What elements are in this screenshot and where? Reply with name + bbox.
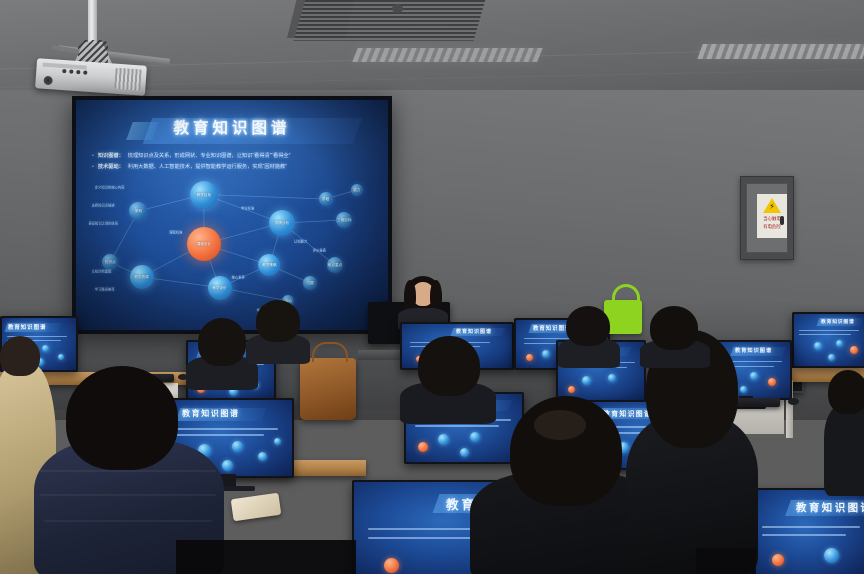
student-far-right-edge (824, 370, 864, 490)
projector-led-1 (62, 69, 66, 73)
phone-on-desk[interactable] (231, 493, 282, 521)
student-row2-center (246, 300, 310, 360)
ceiling-light-2 (697, 44, 864, 59)
projector-led-3 (76, 70, 80, 74)
student-mid-right (400, 336, 496, 414)
monitor-screen: 教育知识图谱 (754, 490, 864, 574)
monitor-right-rear[interactable]: 教育知识图谱 (792, 312, 864, 368)
graph-center-node (418, 442, 428, 452)
hair-highlight (534, 410, 586, 440)
foreground-shadow-bottom (176, 540, 356, 574)
student-hair (418, 336, 480, 396)
mouse-right[interactable] (788, 398, 799, 405)
lightning-bolt-icon: ⚡ (769, 203, 775, 211)
graph-node (814, 342, 822, 350)
student-torso (824, 404, 864, 496)
student-hair (650, 306, 698, 350)
projector-lens-icon (43, 76, 53, 86)
graph-node (828, 354, 835, 361)
graph-node (608, 374, 616, 382)
graph-node (258, 452, 267, 461)
graph-center-node (768, 378, 776, 386)
hvac-vent (294, 0, 487, 41)
graph-center-node (772, 554, 784, 566)
instructor (396, 276, 450, 322)
green-bag-handle (612, 284, 640, 305)
electrical-cabinet[interactable]: ⚡ 当心触电 有电危险 (740, 176, 794, 260)
cabinet-door[interactable]: ⚡ 当心触电 有电危险 (746, 183, 788, 253)
student-row2-right (558, 306, 620, 364)
monitor-screen: 教育知识图谱 (794, 314, 864, 366)
monitor-text-line (799, 334, 851, 335)
graph-node (582, 376, 591, 385)
graph-node (274, 438, 281, 445)
classroom-photo: 教育知识图谱 • 知识图谱： 梳理知识点及关系，形成网状、专业知识图谱，让知识“… (0, 0, 864, 574)
puffer-seam-2 (40, 494, 216, 496)
projector-body (35, 58, 147, 96)
monitor-text-line (799, 330, 859, 331)
ceiling-light-1 (352, 48, 543, 62)
graph-node (824, 548, 839, 563)
graph-node (438, 434, 449, 445)
student-back-right (640, 306, 710, 362)
puffer-seam-3 (44, 520, 212, 522)
smoke-detector-icon (392, 4, 403, 13)
puffer-seam-1 (40, 470, 216, 472)
graph-node (58, 354, 64, 360)
handbag-handle (312, 342, 348, 362)
student-hair (828, 370, 864, 414)
student-hair (198, 318, 246, 366)
foreground-shadow-right (696, 548, 756, 574)
student-hair (66, 366, 178, 470)
ceiling-projector (0, 0, 200, 100)
leather-handbag (300, 358, 356, 420)
student-hair (566, 306, 610, 346)
monitor-slide-title: 教育知识图谱 (796, 500, 864, 515)
graph-node (232, 441, 243, 452)
monitor-slide-title: 教育知识图谱 (8, 323, 46, 331)
student-hair (256, 300, 300, 342)
projection-screen: 教育知识图谱 • 知识图谱： 梳理知识点及关系，形成网状、专业知识图谱，让知识“… (72, 96, 392, 334)
screen-vignette (76, 100, 388, 330)
monitor-slide-title: 教育知识图谱 (821, 318, 855, 325)
monitor-slide-title: 教育知识图谱 (456, 328, 492, 335)
projector-led-4 (83, 70, 87, 74)
cabinet-handle[interactable] (780, 216, 784, 225)
graph-center-node (568, 386, 575, 393)
graph-center-node (526, 354, 533, 361)
monitor-front-right[interactable]: 教育知识图谱 (752, 488, 864, 574)
graph-node (460, 448, 469, 457)
graph-node (542, 350, 550, 358)
graph-center-node (384, 558, 399, 573)
graph-center-node (850, 346, 858, 354)
projector-led-2 (69, 69, 73, 73)
projected-slide: 教育知识图谱 • 知识图谱： 梳理知识点及关系，形成网状、专业知识图谱，让知识“… (76, 100, 388, 330)
monitor-text-line (762, 534, 846, 536)
graph-node (836, 340, 843, 347)
projector-grill (114, 68, 141, 91)
monitor-text-line (762, 526, 860, 528)
